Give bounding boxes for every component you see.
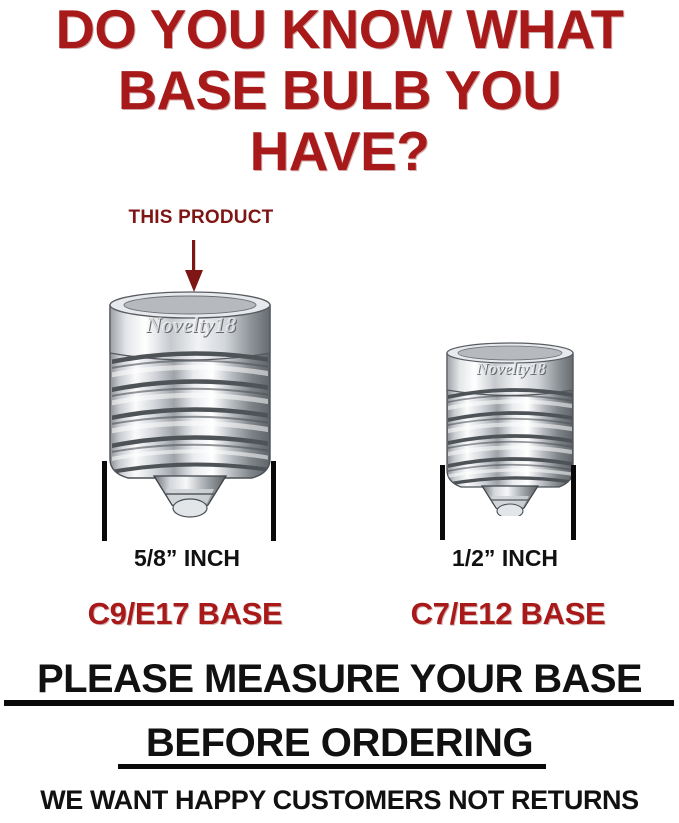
measurement-label-right: 1/2” INCH — [432, 545, 578, 572]
base-name-left: C9/E17 BASE — [40, 596, 330, 632]
svg-text:Novelty18: Novelty18 — [145, 312, 236, 337]
bulb-base-c7-e12: Novelty18 Novelty18 — [442, 336, 578, 516]
headline-line-1: DO YOU KNOW WHAT — [3, 2, 675, 57]
footer-line-2: BEFORE ORDERING — [0, 723, 679, 763]
this-product-label: THIS PRODUCT — [108, 207, 294, 229]
footer-underline-2 — [118, 764, 546, 769]
measure-tick-left-start — [102, 461, 107, 541]
base-name-right: C7/E12 BASE — [368, 596, 648, 632]
bulb-base-c9-e17: Novelty18 Novelty18 — [104, 283, 276, 518]
footer-line-3: WE WANT HAPPY CUSTOMERS NOT RETURNS — [0, 787, 679, 814]
measurement-label-left: 5/8” INCH — [96, 545, 278, 572]
headline-line-3: HAVE? — [0, 124, 679, 179]
infographic-page: DO YOU KNOW WHAT BASE BULB YOU HAVE? THI… — [0, 0, 679, 823]
measure-tick-right-start — [440, 465, 445, 540]
footer-underline-1 — [4, 700, 674, 706]
headline-line-2: BASE BULB YOU — [3, 63, 675, 118]
footer-line-1: PLEASE MEASURE YOUR BASE — [0, 659, 679, 699]
measure-tick-left-end — [271, 461, 276, 541]
measure-tick-right-end — [571, 465, 576, 540]
svg-text:Novelty18: Novelty18 — [475, 359, 546, 378]
